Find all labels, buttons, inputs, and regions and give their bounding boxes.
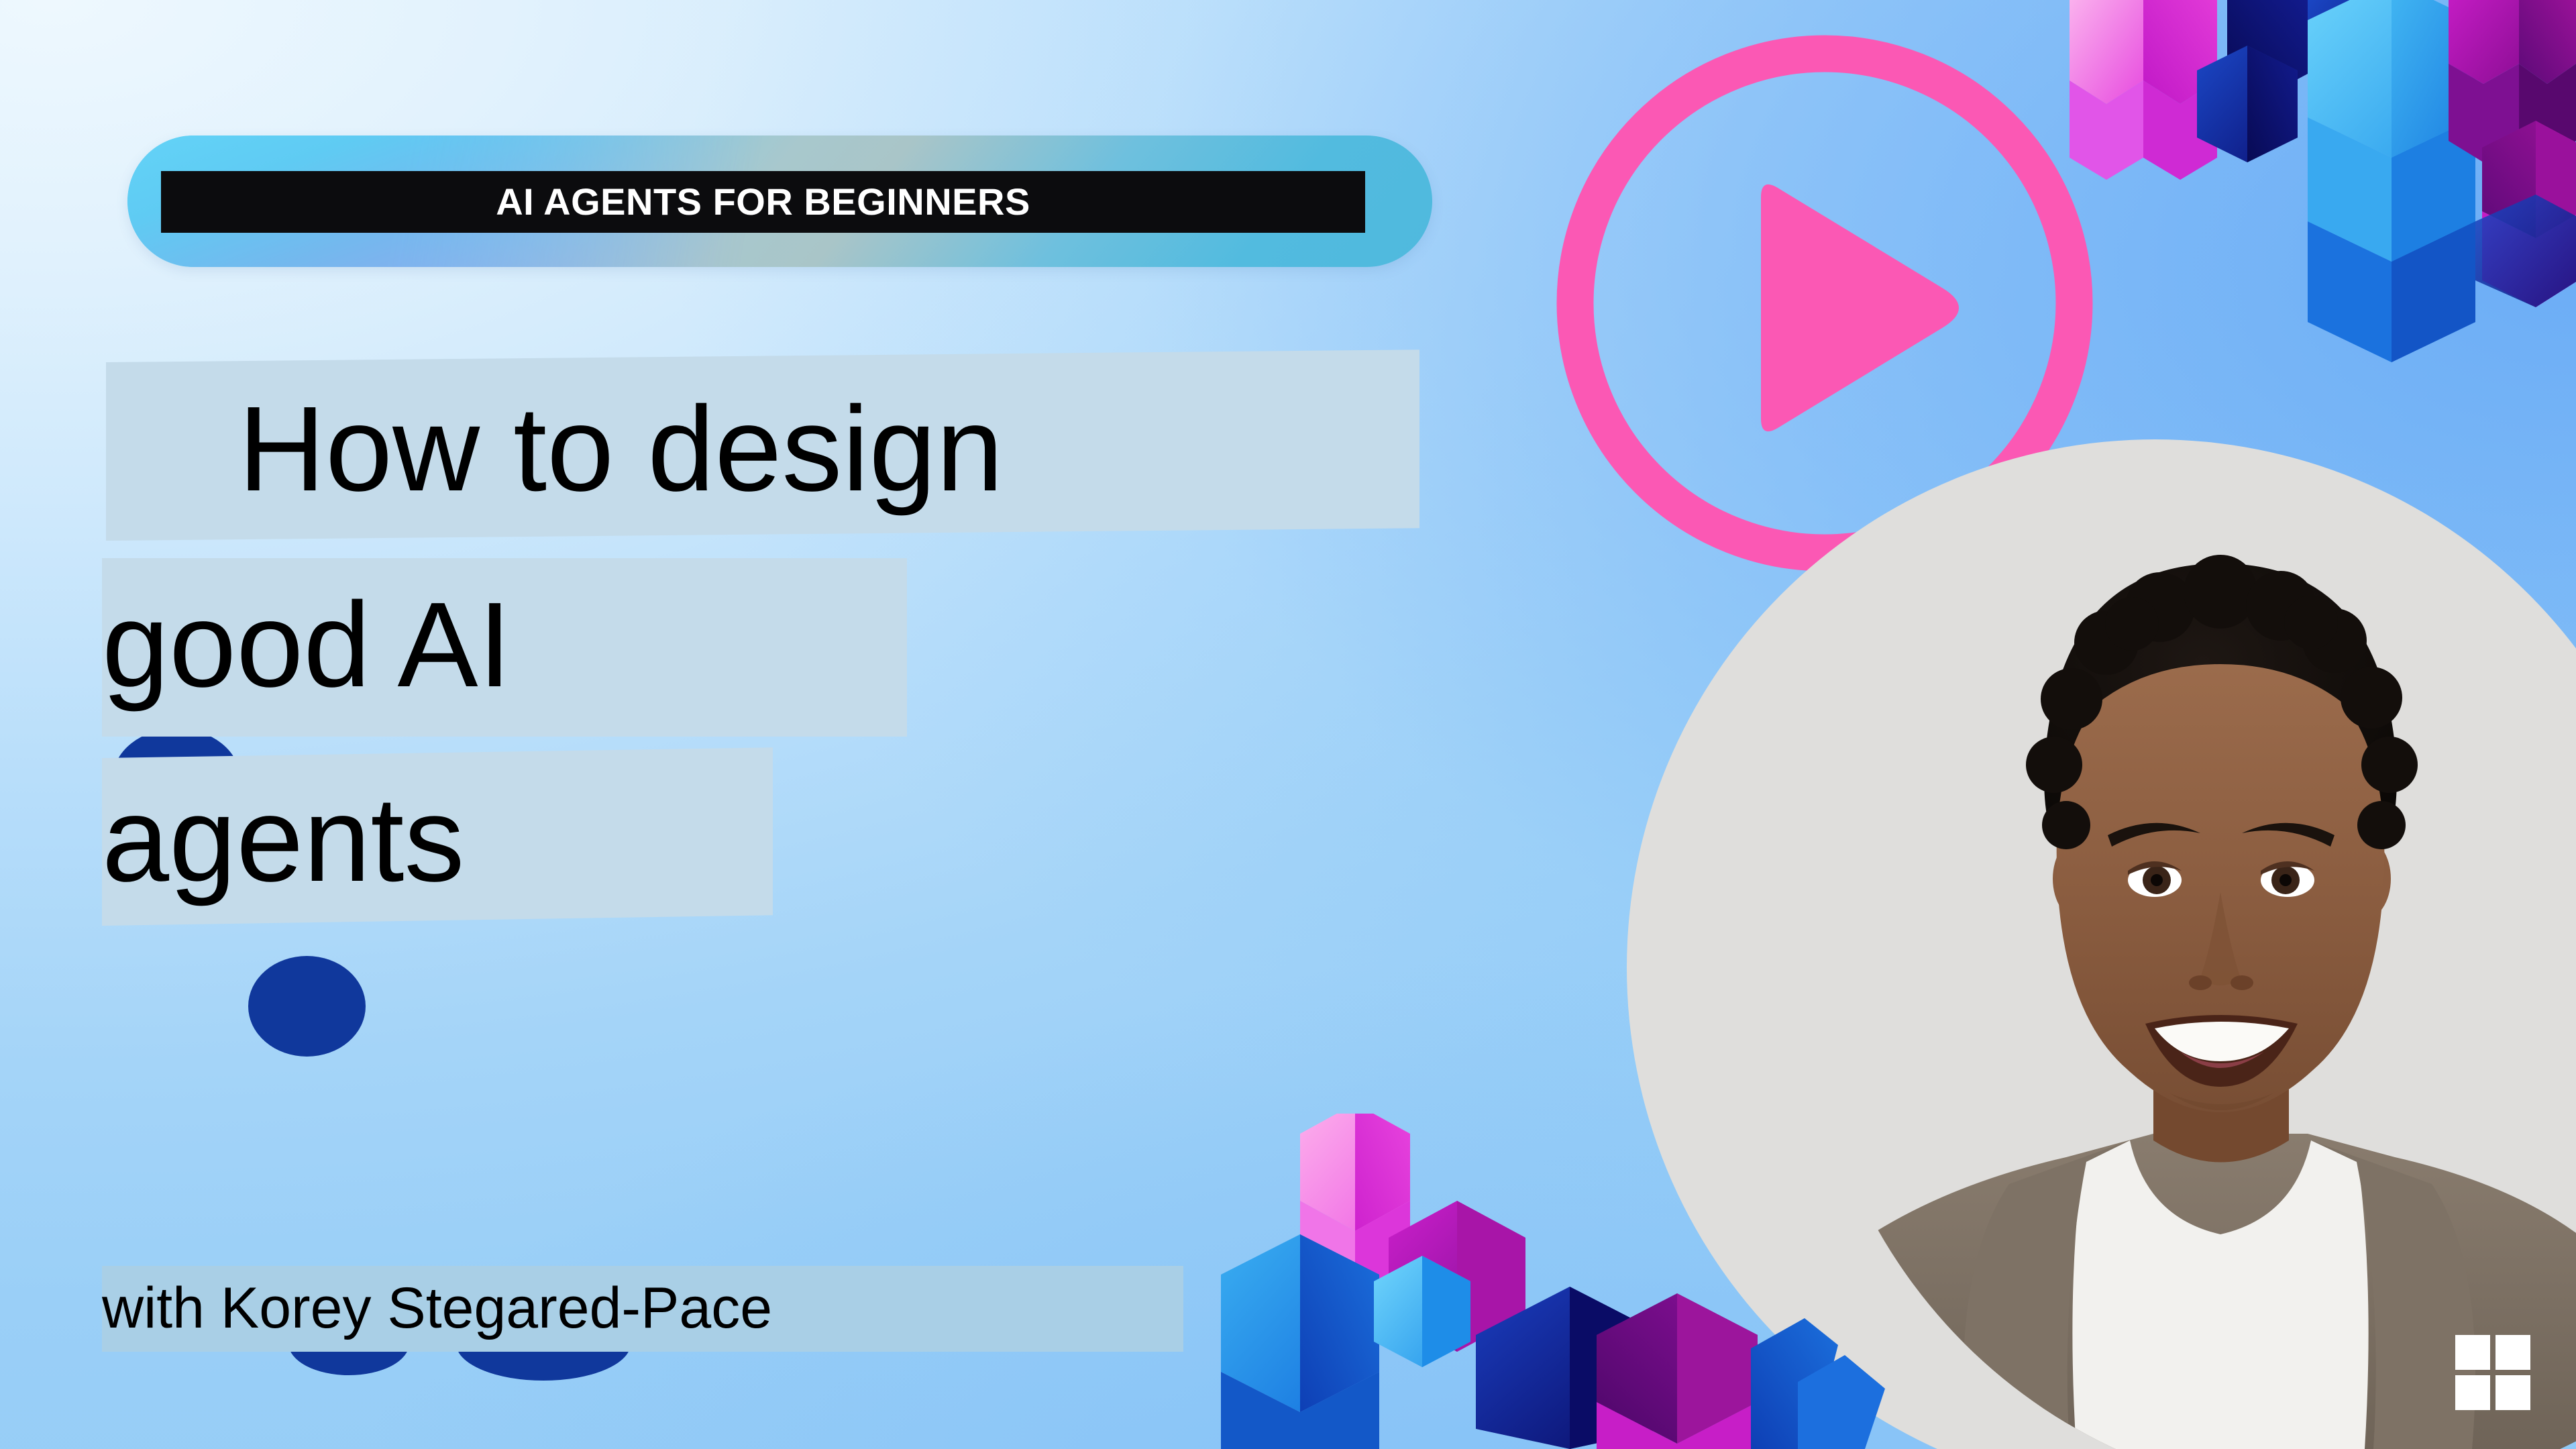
logo-square-top-left [2455,1335,2490,1370]
category-badge: AI AGENTS FOR BEGINNERS [127,136,1432,267]
speaker-portrait [1865,463,2576,1449]
title-line-1-text: How to design [0,362,1004,510]
logo-square-bottom-left [2455,1375,2490,1410]
subtitle: with Korey Stegared-Pace [0,1266,772,1337]
title-line-3-text: agents [0,758,464,900]
microsoft-logo-icon [2455,1335,2530,1410]
navy-accent-shape [248,956,366,1057]
category-badge-label: AI AGENTS FOR BEGINNERS [496,183,1030,221]
video-thumbnail: AI AGENTS FOR BEGINNERS How to design go… [0,0,2576,1449]
logo-square-top-right [2495,1335,2530,1370]
logo-square-bottom-right [2495,1375,2530,1410]
geometric-cubes-bottom [1221,1114,1959,1449]
subtitle-text: with Korey Stegared-Pace [0,1266,772,1337]
title-line-2: good AI [0,558,512,706]
title-line-1: How to design [0,362,1004,510]
title-line-2-text: good AI [0,558,512,706]
category-badge-bar: AI AGENTS FOR BEGINNERS [161,171,1365,233]
title-line-3: agents [0,758,464,900]
